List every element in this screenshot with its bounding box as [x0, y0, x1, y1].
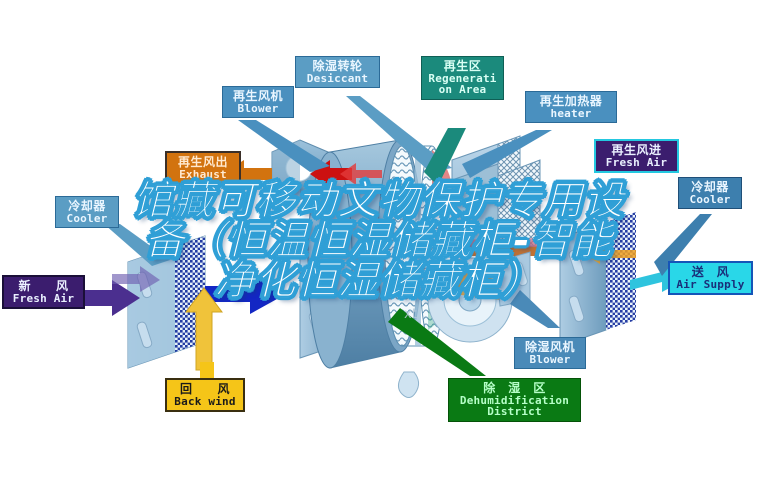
- label-dehumidification-blower[interactable]: 除湿风机 Blower: [514, 337, 586, 369]
- label-regeneration-blower-cn: 再生风机: [227, 90, 289, 103]
- label-regeneration-blower-en: Blower: [227, 103, 289, 115]
- label-regeneration-heater-cn: 再生加热器: [530, 95, 612, 108]
- label-dehumidification-district-en2: District: [453, 406, 576, 418]
- label-regeneration-heater[interactable]: 再生加热器 heater: [525, 91, 617, 123]
- label-desiccant-wheel-cn: 除湿转轮: [300, 60, 375, 73]
- label-desiccant-wheel[interactable]: 除湿转轮 Desiccant: [295, 56, 380, 88]
- label-regeneration-area-cn: 再生区: [425, 60, 500, 73]
- watermark-title-line-3: 净化恒湿储藏柜）: [58, 261, 699, 301]
- label-exhaust-cn: 再生风出: [171, 156, 235, 169]
- label-back-wind-cn: 回 风: [171, 383, 239, 396]
- label-dehumidification-blower-cn: 除湿风机: [519, 341, 581, 354]
- watermark-title: 馆藏可移动文物保护专用设 备（恒温恒湿储藏柜-智能 净化恒湿储藏柜）: [0, 181, 757, 301]
- label-regeneration-area-en2: on Area: [425, 84, 500, 96]
- label-regeneration-fresh-air-en: Fresh Air: [600, 157, 673, 169]
- label-regeneration-fresh-air-cn: 再生风进: [600, 144, 673, 157]
- label-dehumidification-district-cn: 除 湿 区: [453, 382, 576, 395]
- label-regeneration-heater-en: heater: [530, 108, 612, 120]
- watermark-title-line-2: 备（恒温恒湿储藏柜-智能: [58, 221, 699, 261]
- label-regeneration-area[interactable]: 再生区 Regenerati on Area: [421, 56, 504, 100]
- label-back-wind[interactable]: 回 风 Back wind: [165, 378, 245, 412]
- label-desiccant-wheel-en: Desiccant: [300, 73, 375, 85]
- label-regeneration-blower[interactable]: 再生风机 Blower: [222, 86, 294, 118]
- label-regeneration-fresh-air[interactable]: 再生风进 Fresh Air: [594, 139, 679, 173]
- label-dehumidification-blower-en: Blower: [519, 354, 581, 366]
- label-dehumidification-district[interactable]: 除 湿 区 Dehumidification District: [448, 378, 581, 422]
- label-back-wind-en: Back wind: [171, 396, 239, 408]
- diagram-canvas: xt 除湿转轮 Desiccant 再生风机 Blower 再生区 Regene…: [0, 0, 757, 488]
- watermark-title-line-1: 馆藏可移动文物保护专用设: [58, 181, 699, 221]
- small-watermark: xt: [404, 307, 417, 322]
